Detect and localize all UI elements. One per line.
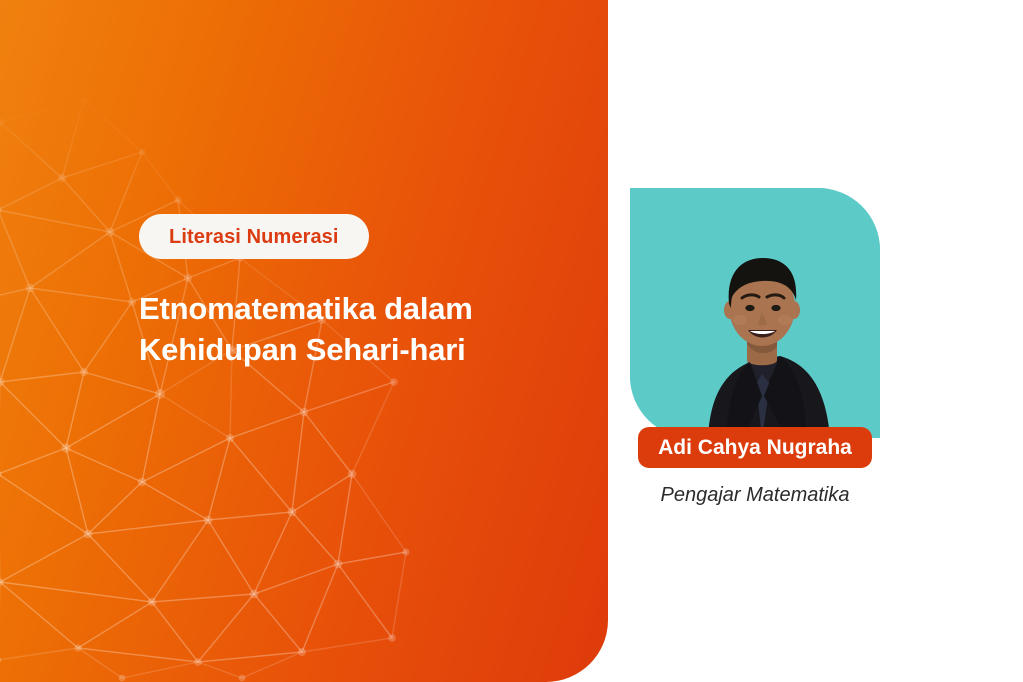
category-badge: Literasi Numerasi [139,214,369,259]
network-constellation-pattern [0,82,412,682]
presenter-role: Pengajar Matematika [661,485,850,505]
presenter-card: Adi Cahya Nugraha Pengajar Matematika [630,188,880,505]
slide-title: Etnomatematika dalam Kehidupan Sehari-ha… [139,288,569,370]
category-badge-label: Literasi Numerasi [169,227,339,247]
left-orange-panel: Literasi Numerasi Etnomatematika dalam K… [0,0,608,682]
slide-title-line-1: Etnomatematika dalam [139,288,569,329]
slide-title-line-2: Kehidupan Sehari-hari [139,329,569,370]
presenter-portrait-illustration [630,188,880,438]
presenter-name: Adi Cahya Nugraha [658,437,852,458]
right-white-panel: Adi Cahya Nugraha Pengajar Matematika [608,0,1023,682]
presenter-name-badge: Adi Cahya Nugraha [638,427,872,468]
presentation-slide: Literasi Numerasi Etnomatematika dalam K… [0,0,1023,682]
presenter-photo [630,188,880,438]
